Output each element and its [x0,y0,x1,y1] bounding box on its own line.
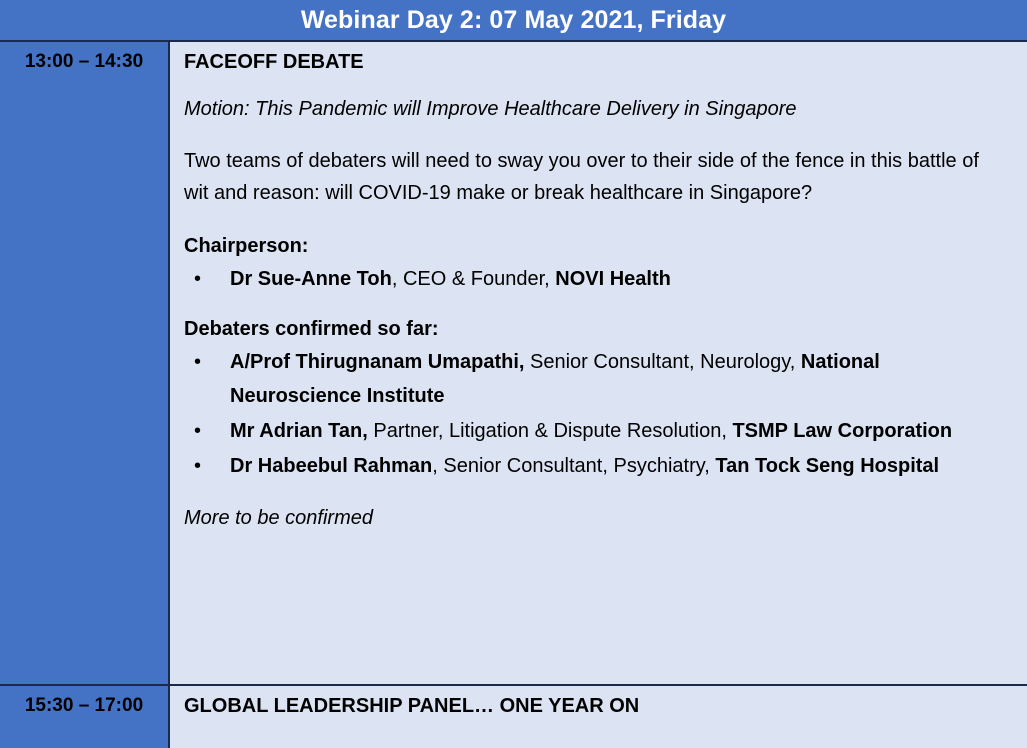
session-motion: Motion: This Pandemic will Improve Healt… [184,97,1013,122]
debaters-list: •A/Prof Thirugnanam Umapathi, Senior Con… [184,346,1013,483]
person-organisation: Tan Tock Seng Hospital [715,455,939,477]
agenda-header-banner: Webinar Day 2: 07 May 2021, Friday [0,0,1027,42]
time-cell: 13:00 – 14:30 [0,42,170,684]
time-cell: 15:30 – 17:00 [0,686,170,748]
person-name: Dr Habeebul Rahman [230,455,432,477]
list-item: •Mr Adrian Tan, Partner, Litigation & Di… [184,415,1013,448]
list-item: •A/Prof Thirugnanam Umapathi, Senior Con… [184,346,1013,412]
person-organisation: TSMP Law Corporation [732,420,952,442]
chairperson-label: Chairperson: [184,233,1013,259]
agenda-row-faceoff-debate: 13:00 – 14:30 FACEOFF DEBATE Motion: Thi… [0,42,1027,686]
person-name: Dr Sue-Anne Toh [230,268,392,290]
person-organisation: NOVI Health [555,268,671,290]
bullet-icon: • [194,415,201,448]
chairperson-list: •Dr Sue-Anne Toh, CEO & Founder, NOVI He… [184,263,1013,296]
person-role: Partner, Litigation & Dispute Resolution… [368,420,733,442]
bullet-icon: • [194,450,201,483]
person-name: Mr Adrian Tan, [230,420,368,442]
session-content-cell: GLOBAL LEADERSHIP PANEL… ONE YEAR ON [170,686,1027,748]
time-slot-label: 15:30 – 17:00 [25,695,143,716]
session-title: FACEOFF DEBATE [184,50,1013,75]
agenda-row-global-leadership-panel: 15:30 – 17:00 GLOBAL LEADERSHIP PANEL… O… [0,686,1027,748]
session-content-cell: FACEOFF DEBATE Motion: This Pandemic wil… [170,42,1027,684]
bullet-icon: • [194,346,201,379]
debaters-label: Debaters confirmed so far: [184,316,1013,342]
person-name: A/Prof Thirugnanam Umapathi, [230,351,524,373]
time-slot-label: 13:00 – 14:30 [25,51,143,72]
list-item: •Dr Sue-Anne Toh, CEO & Founder, NOVI He… [184,263,1013,296]
banner-title: Webinar Day 2: 07 May 2021, Friday [301,8,726,33]
session-footnote: More to be confirmed [184,505,1013,531]
session-title: GLOBAL LEADERSHIP PANEL… ONE YEAR ON [184,694,1013,719]
bullet-icon: • [194,263,201,296]
person-role: Senior Consultant, Neurology, [524,351,800,373]
person-role: , CEO & Founder, [392,268,555,290]
list-item: •Dr Habeebul Rahman, Senior Consultant, … [184,450,1013,483]
agenda-table: Webinar Day 2: 07 May 2021, Friday 13:00… [0,0,1027,748]
session-description: Two teams of debaters will need to sway … [184,146,999,209]
person-role: , Senior Consultant, Psychiatry, [432,455,715,477]
